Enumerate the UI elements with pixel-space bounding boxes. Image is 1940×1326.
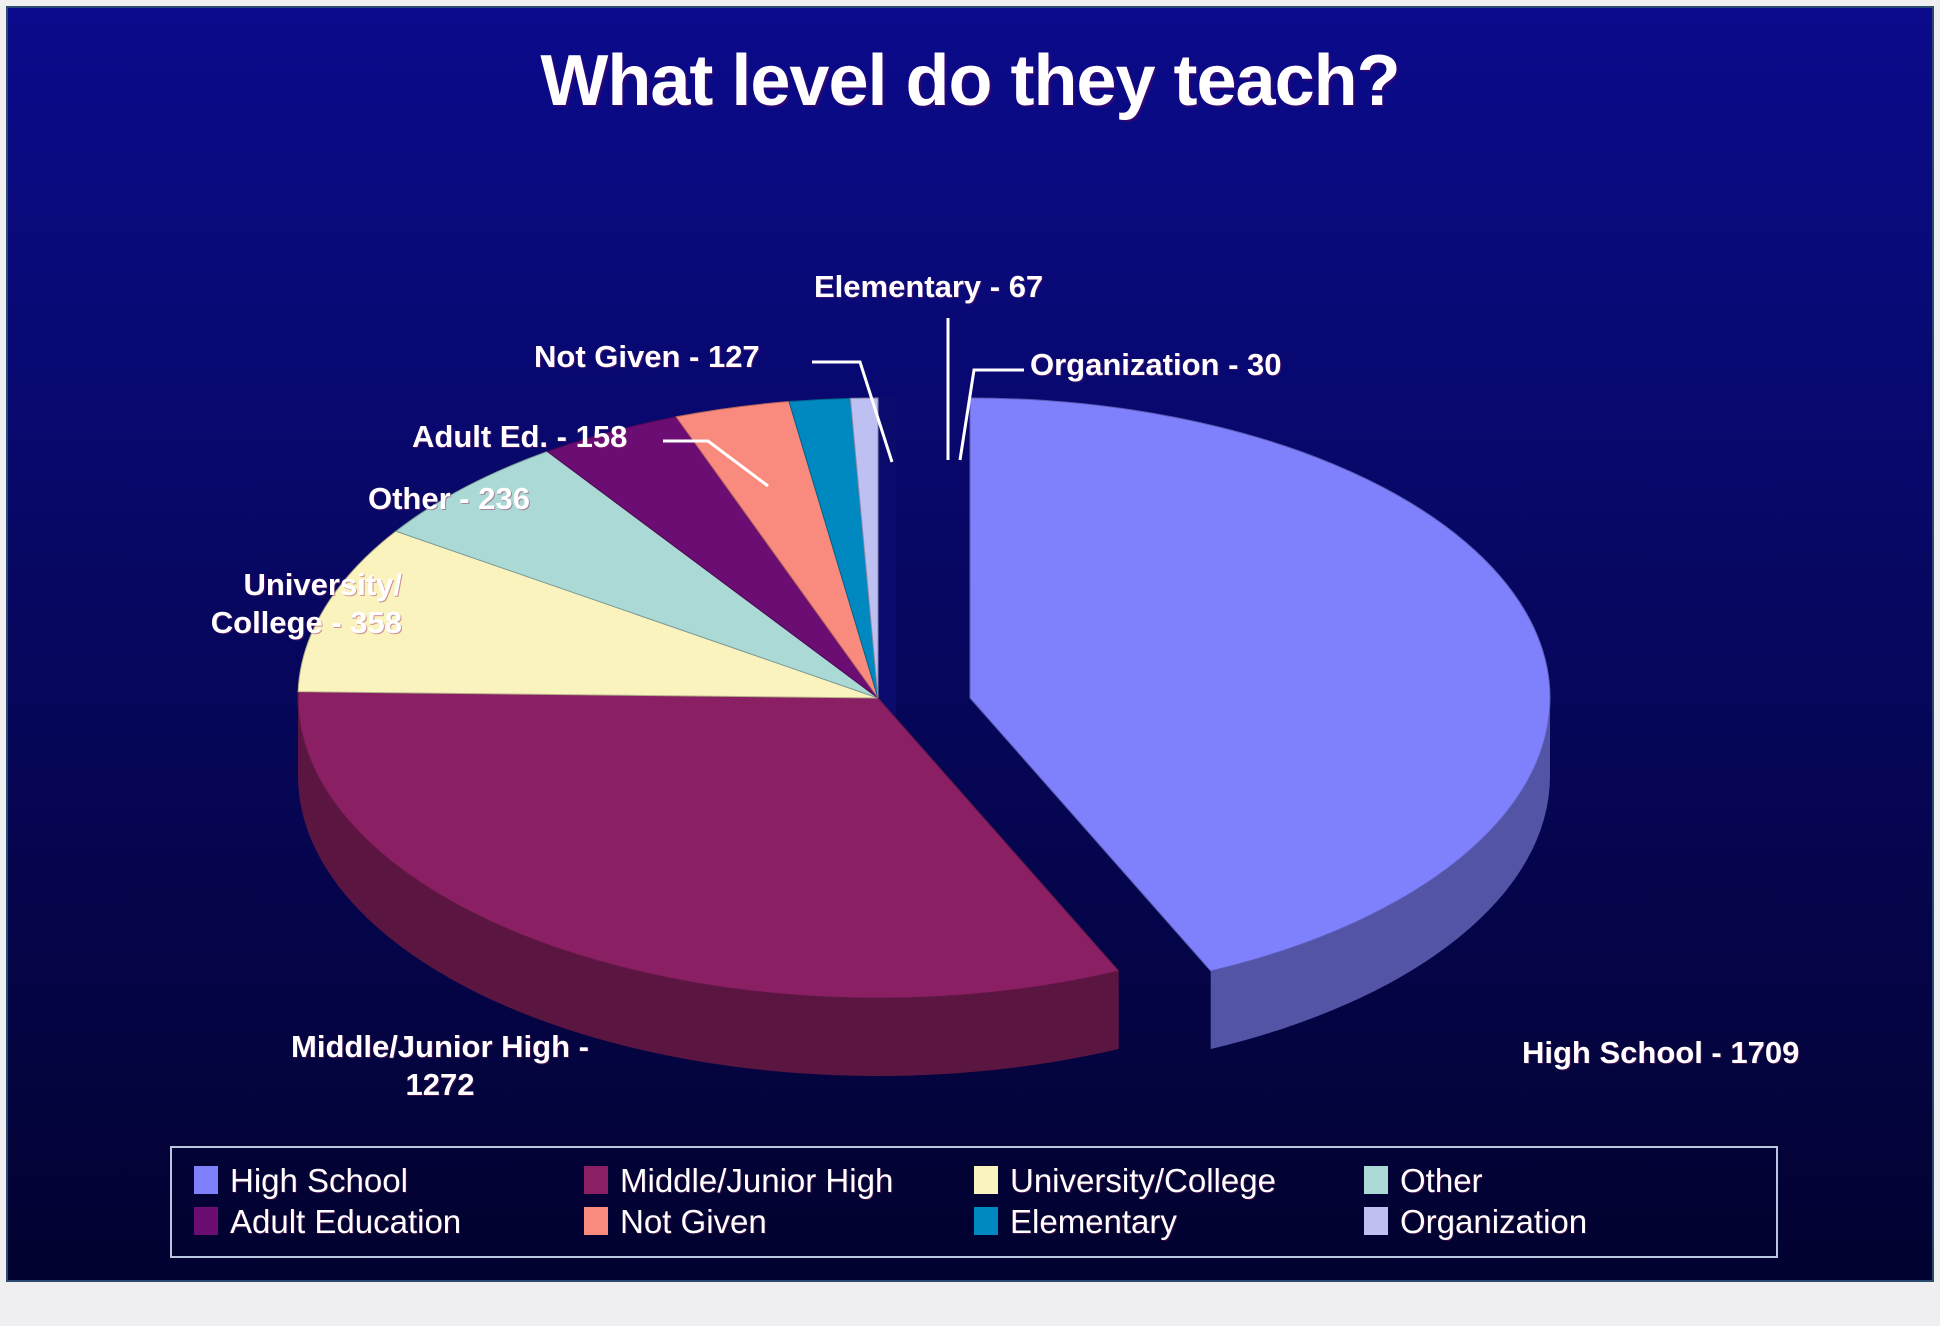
- callout-high-school: High School - 1709: [1522, 1034, 1799, 1072]
- legend-item-organization[interactable]: Organization: [1364, 1201, 1754, 1242]
- legend-item-other[interactable]: Other: [1364, 1160, 1754, 1201]
- callout-organization: Organization - 30: [1030, 346, 1281, 384]
- callout-university-line2: College - 358: [186, 604, 402, 642]
- legend-swatch-icon: [1364, 1166, 1388, 1194]
- legend-item-high-school[interactable]: High School: [194, 1160, 584, 1201]
- callout-adult-ed: Adult Ed. - 158: [412, 418, 627, 456]
- slide-body: What level do they teach?: [6, 6, 1934, 1282]
- legend-swatch-icon: [974, 1166, 998, 1194]
- legend-item-label: Middle/Junior High: [620, 1160, 893, 1201]
- callout-middle-line1: Middle/Junior High -: [250, 1028, 630, 1066]
- callout-university-college: University/ College - 358: [186, 566, 402, 642]
- callout-not-given: Not Given - 127: [534, 338, 760, 376]
- callout-elementary: Elementary - 67: [814, 268, 1043, 306]
- legend-item-label: University/College: [1010, 1160, 1276, 1201]
- legend-item-label: High School: [230, 1160, 408, 1201]
- legend-item-adult-education[interactable]: Adult Education: [194, 1201, 584, 1242]
- callout-middle-junior-high: Middle/Junior High - 1272: [250, 1028, 630, 1104]
- legend-swatch-icon: [584, 1166, 608, 1194]
- slide-stage: What level do they teach?: [0, 0, 1940, 1326]
- slide-frame: What level do they teach?: [0, 0, 1940, 1326]
- legend-item-not-given[interactable]: Not Given: [584, 1201, 974, 1242]
- legend-item-university-college[interactable]: University/College: [974, 1160, 1364, 1201]
- callout-middle-line2: 1272: [250, 1066, 630, 1104]
- legend-item-label: Other: [1400, 1160, 1483, 1201]
- legend-item-label: Organization: [1400, 1201, 1587, 1242]
- legend-item-label: Not Given: [620, 1201, 767, 1242]
- legend-swatch-icon: [974, 1207, 998, 1235]
- legend-swatch-icon: [194, 1207, 218, 1235]
- legend-item-middle-junior-high[interactable]: Middle/Junior High: [584, 1160, 974, 1201]
- legend-row-2: Adult EducationNot GivenElementaryOrgani…: [194, 1201, 1754, 1242]
- callout-other: Other - 236: [368, 480, 530, 518]
- legend-swatch-icon: [584, 1207, 608, 1235]
- chart-legend: High SchoolMiddle/Junior HighUniversity/…: [170, 1146, 1778, 1259]
- legend-swatch-icon: [1364, 1207, 1388, 1235]
- legend-swatch-icon: [194, 1166, 218, 1194]
- callout-university-line1: University/: [186, 566, 402, 604]
- legend-row-1: High SchoolMiddle/Junior HighUniversity/…: [194, 1160, 1754, 1201]
- legend-item-label: Elementary: [1010, 1201, 1177, 1242]
- legend-item-elementary[interactable]: Elementary: [974, 1201, 1364, 1242]
- legend-item-label: Adult Education: [230, 1201, 461, 1242]
